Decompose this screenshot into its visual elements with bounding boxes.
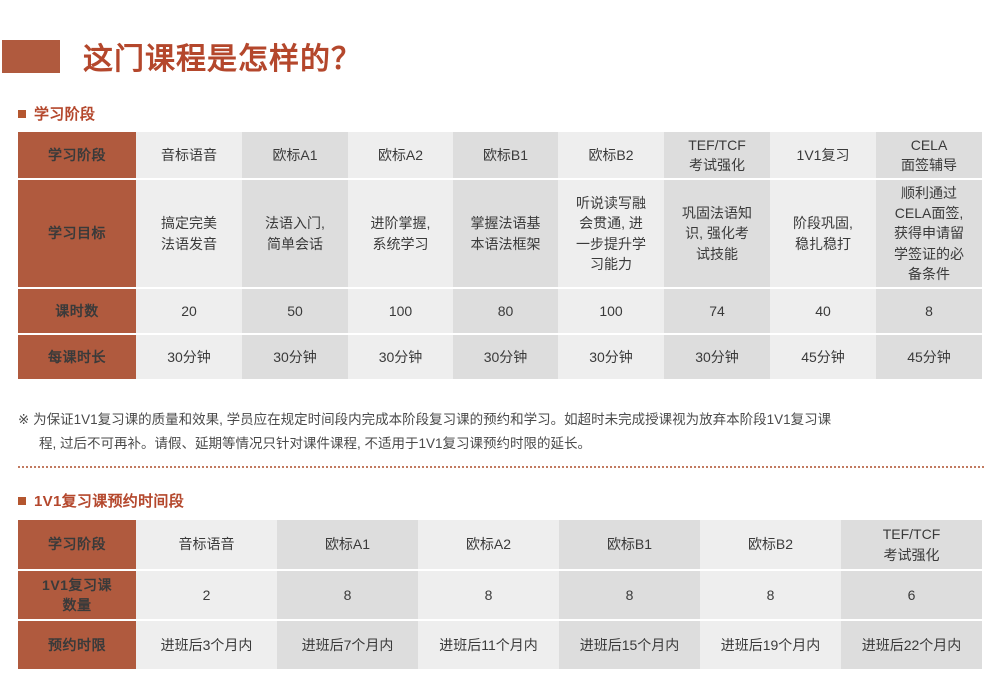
- footnote-text-1: 为保证1V1复习课的质量和效果, 学员应在规定时间段内完成本阶段复习课的预约和学…: [33, 412, 831, 427]
- goal-cell-1: 法语入门, 简单会话: [242, 180, 348, 287]
- stage-line: 欧标A1: [325, 536, 370, 552]
- count-cell-5: 6: [841, 571, 982, 619]
- booking-window-table: 学习阶段 音标语音 欧标A1 欧标A2 欧标B1 欧标B2 TEF/TCF 考试…: [18, 518, 982, 671]
- row-header-count: 1V1复习课 数量: [18, 571, 136, 619]
- page-title-row: 这门课程是怎样的？: [0, 30, 1000, 82]
- section-label: 1V1复习课预约时间段: [34, 490, 184, 511]
- goal-line: 学签证的必: [876, 244, 982, 264]
- goal-line: 法语发音: [136, 234, 242, 254]
- hours-cell-7: 8: [876, 289, 982, 333]
- learning-stage-table: 学习阶段 音标语音 欧标A1 欧标A2 欧标B1 欧标B2 TEF/TCF 考试…: [18, 130, 982, 381]
- stage-cell-1: 欧标A1: [242, 132, 348, 178]
- row-header-duration: 每课时长: [18, 335, 136, 379]
- duration-cell-0: 30分钟: [136, 335, 242, 379]
- goal-line: 巩固法语知: [664, 203, 770, 223]
- goal-line: 法语入门,: [242, 213, 348, 233]
- stage-cell-2: 欧标A2: [348, 132, 453, 178]
- stage-cell-3: 欧标B1: [453, 132, 558, 178]
- goal-line: 试技能: [664, 244, 770, 264]
- row-header-deadline: 预约时限: [18, 621, 136, 669]
- square-bullet-icon: [18, 497, 26, 505]
- stage-line: 面签辅导: [876, 155, 982, 175]
- row-header-line: 数量: [18, 595, 136, 615]
- footnote-line-1: ※ 为保证1V1复习课的质量和效果, 学员应在规定时间段内完成本阶段复习课的预约…: [18, 408, 986, 432]
- deadline-cell-2: 进班后11个月内: [418, 621, 559, 669]
- table-row-stage-header: 学习阶段 音标语音 欧标A1 欧标A2 欧标B1 欧标B2 TEF/TCF 考试…: [18, 132, 982, 178]
- row-header-line: 1V1复习课: [18, 575, 136, 595]
- stage-cell-1: 欧标A1: [277, 520, 418, 569]
- stage-cell-6: 1V1复习: [770, 132, 876, 178]
- duration-cell-6: 45分钟: [770, 335, 876, 379]
- goal-cell-5: 巩固法语知 识, 强化考 试技能: [664, 180, 770, 287]
- page-title: 这门课程是怎样的？: [83, 34, 362, 78]
- goal-line: 稳扎稳打: [770, 234, 876, 254]
- section-label: 学习阶段: [34, 103, 95, 124]
- count-cell-3: 8: [559, 571, 700, 619]
- table-row-hours: 课时数 20 50 100 80 100 74 40 8: [18, 289, 982, 333]
- goal-line: 一步提升学: [558, 234, 664, 254]
- duration-cell-5: 30分钟: [664, 335, 770, 379]
- deadline-cell-0: 进班后3个月内: [136, 621, 277, 669]
- goal-line: 获得申请留: [876, 223, 982, 243]
- goal-line: 识, 强化考: [664, 223, 770, 243]
- hours-cell-0: 20: [136, 289, 242, 333]
- stage-line: 欧标A1: [272, 147, 317, 163]
- goal-line: 阶段巩固,: [770, 213, 876, 233]
- hours-cell-6: 40: [770, 289, 876, 333]
- stage-cell-5: TEF/TCF 考试强化: [664, 132, 770, 178]
- stage-cell-4: 欧标B2: [558, 132, 664, 178]
- section-heading-1v1-booking: 1V1复习课预约时间段: [18, 490, 184, 511]
- duration-cell-4: 30分钟: [558, 335, 664, 379]
- footnote-line-2: 程, 过后不可再补。请假、延期等情况只针对课件课程, 不适用于1V1复习课预约时…: [18, 432, 986, 456]
- stage-line: 欧标A2: [378, 147, 423, 163]
- hours-cell-4: 100: [558, 289, 664, 333]
- stage-cell-0: 音标语音: [136, 520, 277, 569]
- goal-line: 进阶掌握,: [348, 213, 453, 233]
- hours-cell-2: 100: [348, 289, 453, 333]
- section-heading-learning-stage: 学习阶段: [18, 103, 95, 124]
- row-header-stage: 学习阶段: [18, 520, 136, 569]
- stage-line: 欧标B2: [748, 536, 793, 552]
- count-cell-4: 8: [700, 571, 841, 619]
- goal-line: CELA面签,: [876, 203, 982, 223]
- duration-cell-3: 30分钟: [453, 335, 558, 379]
- stage-line: TEF/TCF: [841, 524, 982, 544]
- stage-line: 欧标A2: [466, 536, 511, 552]
- deadline-cell-3: 进班后15个月内: [559, 621, 700, 669]
- stage-cell-0: 音标语音: [136, 132, 242, 178]
- goal-cell-6: 阶段巩固, 稳扎稳打: [770, 180, 876, 287]
- count-cell-2: 8: [418, 571, 559, 619]
- stage-line: 欧标B1: [607, 536, 652, 552]
- deadline-cell-5: 进班后22个月内: [841, 621, 982, 669]
- count-cell-0: 2: [136, 571, 277, 619]
- row-header-hours: 课时数: [18, 289, 136, 333]
- duration-cell-2: 30分钟: [348, 335, 453, 379]
- goal-cell-7: 顺利通过 CELA面签, 获得申请留 学签证的必 备条件: [876, 180, 982, 287]
- stage-cell-3: 欧标B1: [559, 520, 700, 569]
- goal-line: 搞定完美: [136, 213, 242, 233]
- goal-cell-0: 搞定完美 法语发音: [136, 180, 242, 287]
- hours-cell-3: 80: [453, 289, 558, 333]
- duration-cell-1: 30分钟: [242, 335, 348, 379]
- stage-line: 考试强化: [841, 545, 982, 565]
- stage-line: 1V1复习: [797, 147, 850, 163]
- deadline-cell-4: 进班后19个月内: [700, 621, 841, 669]
- goal-line: 系统学习: [348, 234, 453, 254]
- stage-line: TEF/TCF: [664, 135, 770, 155]
- table-row-deadlines: 预约时限 进班后3个月内 进班后7个月内 进班后11个月内 进班后15个月内 进…: [18, 621, 982, 669]
- square-bullet-icon: [18, 110, 26, 118]
- deadline-cell-1: 进班后7个月内: [277, 621, 418, 669]
- goal-line: 本语法框架: [453, 234, 558, 254]
- table-row-duration: 每课时长 30分钟 30分钟 30分钟 30分钟 30分钟 30分钟 45分钟 …: [18, 335, 982, 379]
- footnote-marker: ※: [18, 412, 29, 427]
- title-accent-block: [2, 40, 60, 73]
- goal-line: 备条件: [876, 264, 982, 284]
- stage-line: 音标语音: [161, 147, 217, 163]
- stage-line: 音标语音: [179, 536, 235, 552]
- count-cell-1: 8: [277, 571, 418, 619]
- table-row-counts: 1V1复习课 数量 2 8 8 8 8 6: [18, 571, 982, 619]
- hours-cell-5: 74: [664, 289, 770, 333]
- goal-line: 习能力: [558, 254, 664, 274]
- duration-cell-7: 45分钟: [876, 335, 982, 379]
- footnote: ※ 为保证1V1复习课的质量和效果, 学员应在规定时间段内完成本阶段复习课的预约…: [18, 408, 986, 455]
- goal-line: 听说读写融: [558, 193, 664, 213]
- stage-cell-5: TEF/TCF 考试强化: [841, 520, 982, 569]
- goal-line: 会贯通, 进: [558, 213, 664, 233]
- stage-cell-2: 欧标A2: [418, 520, 559, 569]
- section-divider: [18, 466, 984, 468]
- goal-line: 简单会话: [242, 234, 348, 254]
- row-header-goal: 学习目标: [18, 180, 136, 287]
- stage-line: 欧标B1: [483, 147, 528, 163]
- page-root: 这门课程是怎样的？ 学习阶段 学习阶段 音标语音 欧标A1 欧标A2 欧标B1 …: [0, 0, 1000, 692]
- hours-cell-1: 50: [242, 289, 348, 333]
- stage-line: CELA: [876, 135, 982, 155]
- table-row-stage-header: 学习阶段 音标语音 欧标A1 欧标A2 欧标B1 欧标B2 TEF/TCF 考试…: [18, 520, 982, 569]
- goal-cell-3: 掌握法语基 本语法框架: [453, 180, 558, 287]
- goal-cell-2: 进阶掌握, 系统学习: [348, 180, 453, 287]
- row-header-stage: 学习阶段: [18, 132, 136, 178]
- goal-cell-4: 听说读写融 会贯通, 进 一步提升学 习能力: [558, 180, 664, 287]
- table-row-goals: 学习目标 搞定完美 法语发音 法语入门, 简单会话 进阶掌握, 系统学习 掌握法…: [18, 180, 982, 287]
- stage-line: 欧标B2: [588, 147, 633, 163]
- stage-line: 考试强化: [664, 155, 770, 175]
- stage-cell-7: CELA 面签辅导: [876, 132, 982, 178]
- stage-cell-4: 欧标B2: [700, 520, 841, 569]
- goal-line: 掌握法语基: [453, 213, 558, 233]
- goal-line: 顺利通过: [876, 183, 982, 203]
